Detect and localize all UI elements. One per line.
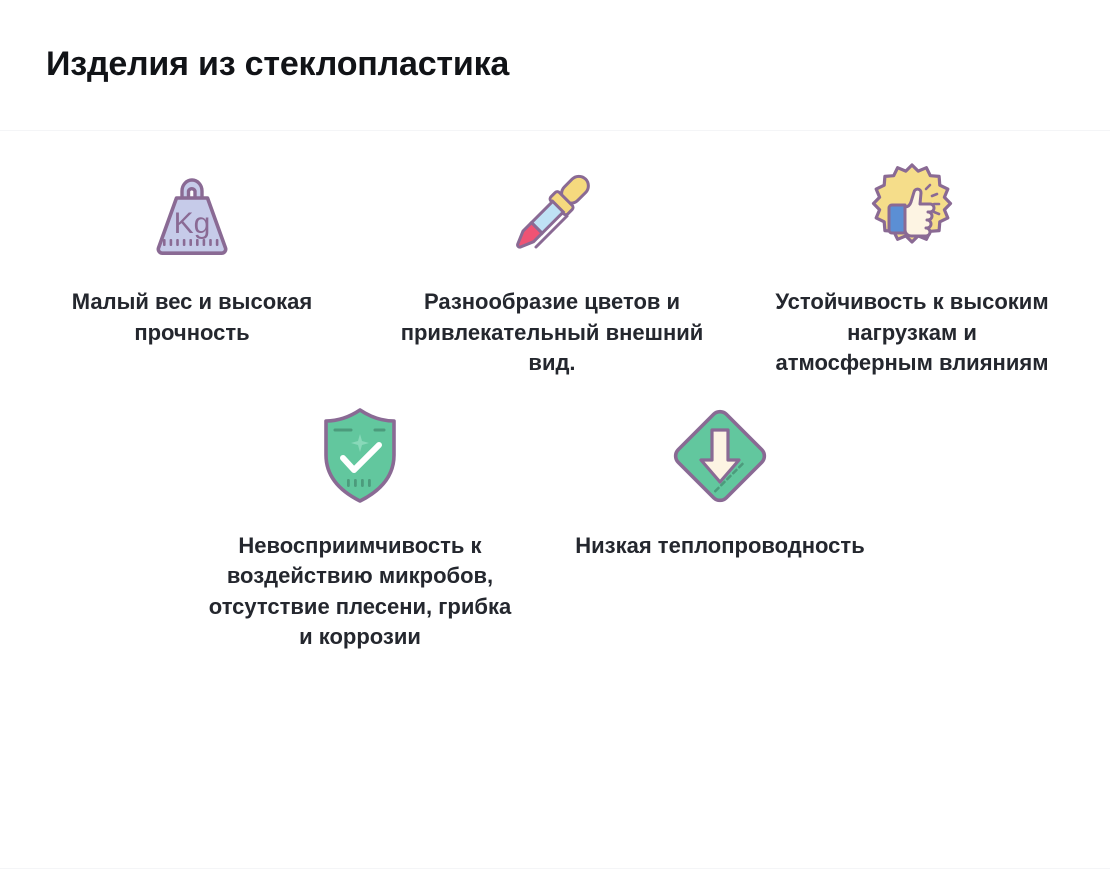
page-header: Изделия из стеклопластика — [0, 0, 1110, 131]
diamond-down-arrow-icon — [664, 397, 776, 515]
eyedropper-icon — [496, 153, 608, 271]
weight-kg-icon: Kg — [136, 153, 248, 271]
weight-icon-text: Kg — [174, 207, 211, 240]
thumbs-up-badge-icon — [856, 153, 968, 271]
feature-label: Низкая теплопроводность — [575, 531, 864, 562]
feature-item-load-resistance: Устойчивость к высоким нагрузкам и атмос… — [732, 153, 1092, 379]
feature-item-low-weight: Kg Малый вес и высокая прочность — [12, 153, 372, 379]
feature-label: Невосприимчивость к воздействию микробов… — [200, 531, 520, 653]
feature-label: Малый вес и высокая прочность — [32, 287, 352, 348]
features-row-top: Kg Малый вес и высокая прочность — [0, 153, 1110, 379]
feature-label: Устойчивость к высоким нагрузкам и атмос… — [767, 287, 1057, 379]
page-root: Изделия из стеклопластика — [0, 0, 1110, 879]
feature-label: Разнообразие цветов и привлекательный вн… — [392, 287, 712, 379]
page-title: Изделия из стеклопластика — [46, 46, 509, 83]
feature-item-low-conductivity: Низкая теплопроводность — [540, 397, 900, 653]
features-row-bottom: Невосприимчивость к воздействию микробов… — [0, 397, 1110, 653]
bottom-divider — [0, 868, 1110, 869]
shield-check-icon — [304, 397, 416, 515]
feature-item-color-variety: Разнообразие цветов и привлекательный вн… — [372, 153, 732, 379]
feature-item-microbe-resistance: Невосприимчивость к воздействию микробов… — [180, 397, 540, 653]
features-section: Kg Малый вес и высокая прочность — [0, 131, 1110, 879]
